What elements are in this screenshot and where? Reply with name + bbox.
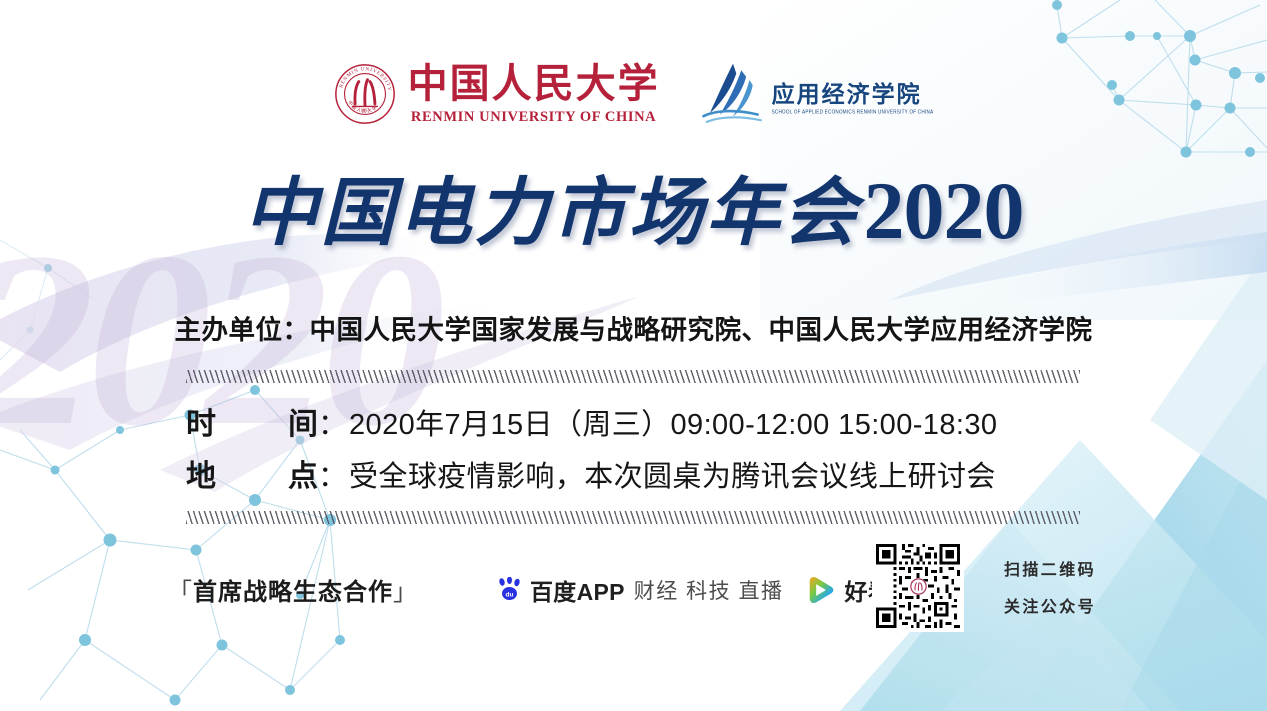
time-label: 时 间	[186, 399, 318, 443]
play-triangle-icon	[805, 576, 836, 604]
svg-text:RENMIN UNIVERSITY OF CHINA: RENMIN UNIVERSITY OF CHINA	[334, 63, 393, 94]
university-name-cn: 中国人民大学	[408, 64, 660, 104]
qr-center-seal	[910, 578, 927, 595]
bracket-close: 」	[393, 579, 418, 606]
qr-caption: 扫描二维码 关注公众号	[1004, 556, 1096, 617]
qr-code-frame[interactable]	[872, 540, 964, 632]
strategic-partner-tag: 「首席战略生态合作」	[168, 572, 418, 607]
qr-block: 扫描二维码 关注公众号	[872, 540, 1096, 632]
school-of-applied-economics-logo: 应用经济学院 SCHOOL OF APPLIED ECONOMICS RENMI…	[700, 62, 934, 126]
time-value: 2020年7月15日（周三）09:00-12:00 15:00-18:30	[349, 401, 997, 443]
location-colon: ：	[318, 453, 347, 495]
detail-row-location: 地 点 ： 受全球疫情影响，本次圆桌为腾讯会议线上研讨会	[186, 451, 1080, 495]
location-label: 地 点	[186, 451, 318, 495]
renmin-university-wordmark: 中国人民大学 RENMIN UNIVERSITY OF CHINA	[408, 64, 660, 125]
time-label-char1: 时	[186, 399, 216, 443]
hatch-divider-bottom	[186, 511, 1080, 524]
sail-wave-icon	[700, 62, 766, 126]
time-colon: ：	[318, 401, 347, 443]
time-label-char2: 间	[288, 399, 318, 443]
school-name-cn: 应用经济学院	[772, 83, 934, 106]
baidu-app-label: 百度APP	[530, 573, 625, 607]
strategic-partner-text: 首席战略生态合作	[193, 579, 393, 606]
location-value: 受全球疫情影响，本次圆桌为腾讯会议线上研讨会	[349, 453, 996, 495]
event-title: 中国电力市场年会2020	[0, 168, 1267, 254]
renmin-university-seal-icon: 1937 RENMIN UNIVERSITY OF CHINA 中国人民大学	[334, 63, 396, 125]
renmin-university-logo: 1937 RENMIN UNIVERSITY OF CHINA 中国人民大学 中…	[334, 63, 660, 125]
location-label-char2: 点	[288, 451, 318, 495]
qr-seal-icon	[910, 578, 927, 595]
partner-row: 「首席战略生态合作」 du 百度APP 财经 科技 直播	[168, 572, 938, 607]
svg-text:du: du	[506, 592, 514, 599]
host-organizations: 主办单位：中国人民大学国家发展与战略研究院、中国人民大学应用经济学院	[0, 308, 1267, 347]
qr-caption-line-2: 关注公众号	[1004, 593, 1096, 617]
event-title-year: 2020	[864, 165, 1024, 256]
qr-caption-line-1: 扫描二维码	[1004, 556, 1096, 580]
poster-root: 2020 1937 RENMIN UNIVERSITY OF CHINA 中国人…	[0, 0, 1267, 711]
event-details-block: 时 间 ： 2020年7月15日（周三）09:00-12:00 15:00-18…	[186, 370, 1080, 524]
logo-row: 1937 RENMIN UNIVERSITY OF CHINA 中国人民大学 中…	[0, 62, 1267, 126]
baidu-paw-icon: du	[496, 577, 523, 602]
school-name-en: SCHOOL OF APPLIED ECONOMICS RENMIN UNIVE…	[772, 110, 934, 115]
hatch-divider-top	[186, 370, 1080, 383]
location-label-char1: 地	[186, 451, 216, 495]
event-title-cn: 中国电力市场年会	[244, 173, 860, 255]
school-wordmark: 应用经济学院 SCHOOL OF APPLIED ECONOMICS RENMI…	[772, 73, 934, 115]
bracket-open: 「	[168, 579, 193, 606]
detail-row-time: 时 间 ： 2020年7月15日（周三）09:00-12:00 15:00-18…	[186, 399, 1080, 443]
baidu-categories: 财经 科技 直播	[634, 575, 784, 605]
baidu-partner[interactable]: du 百度APP 财经 科技 直播	[496, 573, 783, 607]
university-name-en: RENMIN UNIVERSITY OF CHINA	[411, 110, 656, 125]
